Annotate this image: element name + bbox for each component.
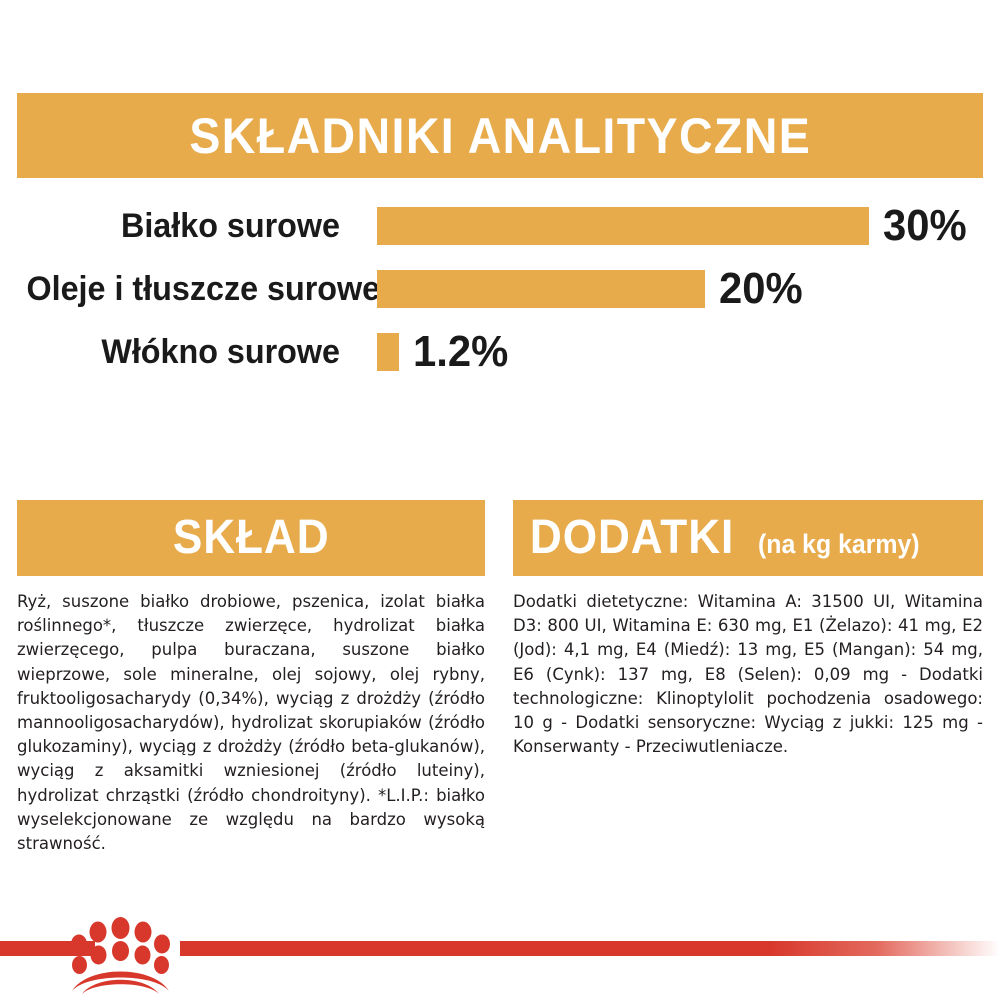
composition-text: Ryż, suszone białko drobiowe, pszenica, … xyxy=(17,590,485,856)
additives-text: Dodatki dietetyczne: Witamina A: 31500 U… xyxy=(513,590,983,759)
analytical-constituents-chart: Białko surowe 30% Oleje i tłuszcze surow… xyxy=(0,196,1000,386)
chart-bar-protein xyxy=(377,207,869,245)
chart-row-fat: Oleje i tłuszcze surowe 20% xyxy=(0,259,1000,319)
chart-value-fibre: 1.2% xyxy=(413,330,508,374)
product-info-page: SKŁADNIKI ANALITYCZNE Białko surowe 30% … xyxy=(0,0,1000,1000)
composition-panel-header: SKŁAD xyxy=(17,500,485,576)
additives-panel-title: DODATKI xyxy=(530,514,734,562)
chart-label-fibre: Włókno surowe xyxy=(27,335,341,369)
additives-panel-header: DODATKI (na kg karmy) xyxy=(513,500,983,576)
royal-canin-crown-icon xyxy=(68,915,173,995)
chart-label-protein: Białko surowe xyxy=(27,209,341,243)
chart-bar-wrap-fat: 20% xyxy=(377,267,807,311)
analytical-constituents-title: SKŁADNIKI ANALITYCZNE xyxy=(189,111,811,161)
composition-panel-body: Ryż, suszone białko drobiowe, pszenica, … xyxy=(17,590,485,856)
chart-row-fibre: Włókno surowe 1.2% xyxy=(0,322,1000,382)
chart-value-fat: 20% xyxy=(719,267,803,311)
composition-panel-title: SKŁAD xyxy=(173,514,330,562)
chart-row-protein: Białko surowe 30% xyxy=(0,196,1000,256)
chart-bar-wrap-fibre: 1.2% xyxy=(377,330,513,374)
additives-title-row: DODATKI (na kg karmy) xyxy=(521,514,927,562)
chart-label-fat: Oleje i tłuszcze surowe xyxy=(27,272,341,306)
analytical-constituents-banner: SKŁADNIKI ANALITYCZNE xyxy=(17,93,983,178)
chart-bar-fibre xyxy=(377,333,399,371)
chart-bar-wrap-protein: 30% xyxy=(377,204,971,248)
chart-bar-fat xyxy=(377,270,705,308)
additives-panel-body: Dodatki dietetyczne: Witamina A: 31500 U… xyxy=(513,590,983,759)
chart-value-protein: 30% xyxy=(883,204,967,248)
additives-panel-subtitle: (na kg karmy) xyxy=(758,531,920,558)
brand-stripe-right xyxy=(180,941,1000,956)
